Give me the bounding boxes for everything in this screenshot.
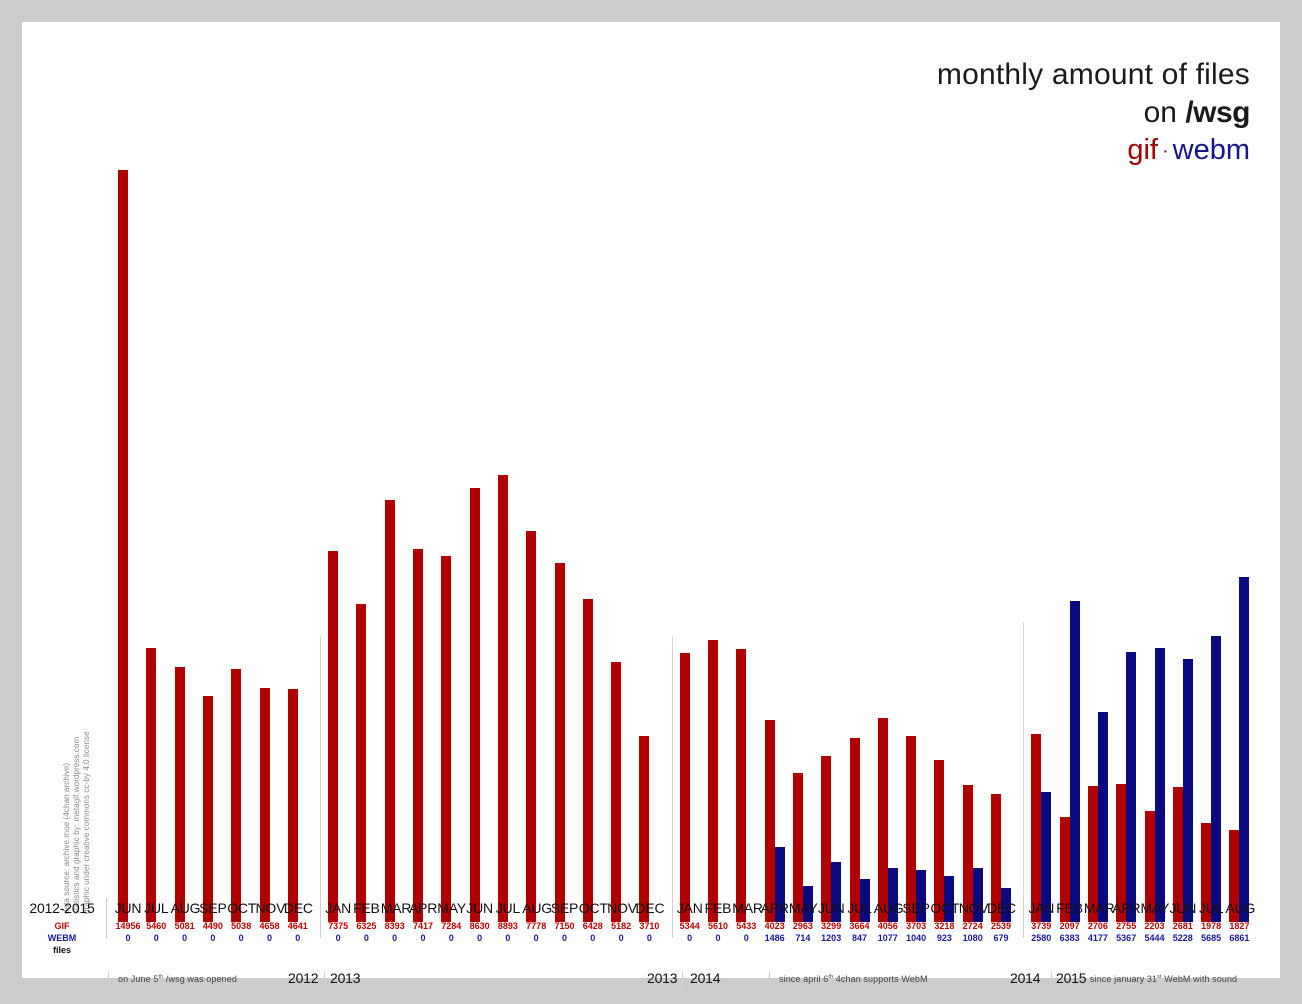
- bar-gif: [736, 649, 746, 922]
- axis-month-column: JAN73750: [324, 900, 352, 943]
- footer-note-text-tail: WebM with sound: [1162, 974, 1237, 984]
- value-webm: 0: [142, 933, 170, 943]
- axis-month-column: APR40231486: [761, 900, 789, 943]
- axis-month-column: JUL19785685: [1197, 900, 1225, 943]
- value-gif: 5344: [676, 921, 704, 931]
- value-gif: 2724: [959, 921, 987, 931]
- bar-gif: [328, 551, 338, 922]
- value-webm: 6861: [1225, 933, 1253, 943]
- axis-month-column: APR27555367: [1112, 900, 1140, 943]
- axis-month-label: AUG: [874, 900, 902, 916]
- axis-month-column: JUL54600: [142, 900, 170, 943]
- bar-gif: [583, 599, 593, 922]
- axis-month-column: JUN26815228: [1169, 900, 1197, 943]
- axis-month-label: NOV: [256, 900, 284, 916]
- value-webm: 0: [732, 933, 760, 943]
- axis-month-label: MAY: [789, 900, 817, 916]
- bar-gif: [118, 170, 128, 922]
- axis-month-column: MAR54330: [732, 900, 760, 943]
- footer-divider: [682, 971, 683, 993]
- axis-month-column: MAR27064177: [1084, 900, 1112, 943]
- bar-webm: [1183, 659, 1193, 922]
- axis-month-column: SEP37031040: [902, 900, 930, 943]
- axis-month-column: DEC37100: [635, 900, 663, 943]
- axis-month-label: OCT: [579, 900, 607, 916]
- year-range-label: 2012-2015: [26, 900, 98, 916]
- value-gif: 7417: [409, 921, 437, 931]
- bar-gif: [175, 667, 185, 922]
- footer-year-label: 2015: [1056, 970, 1086, 986]
- axis-month-column: APR74170: [409, 900, 437, 943]
- value-gif: 7284: [437, 921, 465, 931]
- axis-month-column: NOV51820: [607, 900, 635, 943]
- footer-year-label: 2012: [288, 970, 318, 986]
- bar-gif: [611, 662, 621, 922]
- axis-legend-column: 2012-2015 GIF WEBM files: [26, 900, 98, 955]
- axis-month-label: JUL: [1197, 900, 1225, 916]
- bar-webm: [1239, 577, 1249, 922]
- value-webm: 0: [607, 933, 635, 943]
- axis-month-label: JUL: [846, 900, 874, 916]
- bar-gif: [413, 549, 423, 922]
- bar-webm: [1070, 601, 1080, 922]
- value-webm: 0: [256, 933, 284, 943]
- axis-month-label: DEC: [635, 900, 663, 916]
- value-gif: 4023: [761, 921, 789, 931]
- value-gif: 5038: [227, 921, 255, 931]
- value-gif: 2963: [789, 921, 817, 931]
- axis-month-column: JUN86300: [466, 900, 494, 943]
- bar-gif: [260, 688, 270, 922]
- bar-gif: [288, 689, 298, 922]
- axis-month-label: NOV: [607, 900, 635, 916]
- value-webm: 0: [704, 933, 732, 943]
- value-gif: 7778: [522, 921, 550, 931]
- axis-month-column: OCT64280: [579, 900, 607, 943]
- footer-note: since january 31st WebM with sound: [1090, 974, 1237, 984]
- value-webm: 6383: [1056, 933, 1084, 943]
- value-gif: 2539: [987, 921, 1015, 931]
- axis-month-column: SEP71500: [551, 900, 579, 943]
- value-webm: 714: [789, 933, 817, 943]
- axis-month-column: FEB20976383: [1056, 900, 1084, 943]
- footer-year-label: 2014: [690, 970, 720, 986]
- axis-month-column: SEP44900: [199, 900, 227, 943]
- axis-month-label: JAN: [1027, 900, 1055, 916]
- axis-month-column: JUL3664847: [846, 900, 874, 943]
- value-gif: 3739: [1027, 921, 1055, 931]
- bar-gif: [639, 736, 649, 922]
- value-gif: 5081: [171, 921, 199, 931]
- value-webm: 0: [352, 933, 380, 943]
- axis-month-label: JUN: [1169, 900, 1197, 916]
- axis-month-label: APR: [409, 900, 437, 916]
- axis-month-column: MAY72840: [437, 900, 465, 943]
- axis-month-label: OCT: [930, 900, 958, 916]
- value-webm: 0: [409, 933, 437, 943]
- value-gif: 4641: [284, 921, 312, 931]
- footer-note-text: since april 6: [779, 974, 828, 984]
- footer-year-label: 2013: [330, 970, 360, 986]
- axis-month-label: MAY: [1141, 900, 1169, 916]
- bar-webm: [1126, 652, 1136, 922]
- value-gif: 3218: [930, 921, 958, 931]
- value-webm: 0: [381, 933, 409, 943]
- axis-year-divider: [106, 898, 107, 938]
- value-webm: 1077: [874, 933, 902, 943]
- axis-month-column: MAY2963714: [789, 900, 817, 943]
- value-gif: 14956: [114, 921, 142, 931]
- axis-month-label: SEP: [199, 900, 227, 916]
- poster-canvas: monthly amount of files on /wsg gif·webm…: [22, 22, 1280, 978]
- value-webm: 847: [846, 933, 874, 943]
- value-webm: 1203: [817, 933, 845, 943]
- bar-gif: [146, 648, 156, 922]
- value-gif: 3710: [635, 921, 663, 931]
- axis-month-label: JUL: [494, 900, 522, 916]
- value-webm: 0: [466, 933, 494, 943]
- value-gif: 4490: [199, 921, 227, 931]
- axis-month-column: JUL88930: [494, 900, 522, 943]
- value-gif: 4056: [874, 921, 902, 931]
- axis-month-label: OCT: [227, 900, 255, 916]
- value-gif: 6428: [579, 921, 607, 931]
- value-gif: 3664: [846, 921, 874, 931]
- axis-month-label: APR: [761, 900, 789, 916]
- value-webm: 0: [114, 933, 142, 943]
- footer-note-text-tail: 4chan supports WebM: [833, 974, 927, 984]
- value-gif: 5460: [142, 921, 170, 931]
- year-divider: [672, 636, 673, 922]
- value-gif: 8630: [466, 921, 494, 931]
- value-webm: 0: [635, 933, 663, 943]
- value-webm: 4177: [1084, 933, 1112, 943]
- axis-month-column: FEB56100: [704, 900, 732, 943]
- value-gif: 6325: [352, 921, 380, 931]
- footer-divider: [108, 971, 109, 993]
- value-gif: 8893: [494, 921, 522, 931]
- bar-gif: [470, 488, 480, 922]
- footer-note-text: on June 5: [118, 974, 158, 984]
- axis-month-label: AUG: [171, 900, 199, 916]
- value-gif: 2097: [1056, 921, 1084, 931]
- bar-gif: [878, 718, 888, 922]
- axis-legend-gif: GIF: [26, 921, 98, 931]
- bar-gif: [821, 756, 831, 922]
- footer-note: since april 6th 4chan supports WebM: [779, 974, 928, 984]
- footer-divider: [769, 971, 770, 993]
- axis-month-label: JAN: [676, 900, 704, 916]
- year-divider: [320, 636, 321, 922]
- axis-month-column: JUN149560: [114, 900, 142, 943]
- bar-gif: [231, 669, 241, 922]
- value-gif: 3703: [902, 921, 930, 931]
- value-gif: 2203: [1141, 921, 1169, 931]
- bar-webm: [1155, 648, 1165, 922]
- bar-chart-plot: [22, 22, 1280, 978]
- value-webm: 1080: [959, 933, 987, 943]
- value-webm: 0: [551, 933, 579, 943]
- axis-month-column: FEB63250: [352, 900, 380, 943]
- bar-gif: [555, 563, 565, 922]
- axis-year-divider: [672, 898, 673, 938]
- value-webm: 2580: [1027, 933, 1055, 943]
- axis-month-label: JUN: [466, 900, 494, 916]
- value-gif: 2681: [1169, 921, 1197, 931]
- axis-month-label: FEB: [352, 900, 380, 916]
- footer-note-text: since january 31: [1090, 974, 1157, 984]
- footer-divider: [324, 971, 325, 993]
- value-gif: 3299: [817, 921, 845, 931]
- value-gif: 1827: [1225, 921, 1253, 931]
- bar-gif: [356, 604, 366, 922]
- value-webm: 0: [579, 933, 607, 943]
- bar-gif: [441, 556, 451, 922]
- value-webm: 1040: [902, 933, 930, 943]
- axis-month-column: OCT3218923: [930, 900, 958, 943]
- axis-month-label: JUN: [114, 900, 142, 916]
- value-webm: 0: [199, 933, 227, 943]
- value-gif: 5182: [607, 921, 635, 931]
- axis-month-label: FEB: [704, 900, 732, 916]
- value-webm: 1486: [761, 933, 789, 943]
- value-webm: 0: [676, 933, 704, 943]
- axis-month-column: MAR83930: [381, 900, 409, 943]
- axis-month-label: SEP: [902, 900, 930, 916]
- year-divider: [1023, 622, 1024, 922]
- value-gif: 2755: [1112, 921, 1140, 931]
- axis-year-divider: [1023, 898, 1024, 938]
- value-webm: 0: [227, 933, 255, 943]
- footer-year-label: 2014: [1010, 970, 1040, 986]
- axis-month-label: APR: [1112, 900, 1140, 916]
- value-gif: 5433: [732, 921, 760, 931]
- axis-month-label: DEC: [987, 900, 1015, 916]
- axis-month-column: AUG50810: [171, 900, 199, 943]
- value-gif: 8393: [381, 921, 409, 931]
- value-gif: 7150: [551, 921, 579, 931]
- value-gif: 1978: [1197, 921, 1225, 931]
- value-gif: 2706: [1084, 921, 1112, 931]
- value-webm: 0: [324, 933, 352, 943]
- axis-month-column: MAY22035444: [1141, 900, 1169, 943]
- value-gif: 4658: [256, 921, 284, 931]
- axis-month-label: MAR: [732, 900, 760, 916]
- bar-gif: [708, 640, 718, 922]
- bar-gif: [385, 500, 395, 922]
- axis-month-column: AUG18276861: [1225, 900, 1253, 943]
- axis-month-column: AUG77780: [522, 900, 550, 943]
- axis-legend-files: files: [26, 945, 98, 955]
- bar-webm: [1211, 636, 1221, 922]
- axis-month-column: NOV46580: [256, 900, 284, 943]
- axis-month-label: MAR: [381, 900, 409, 916]
- bar-gif: [906, 736, 916, 922]
- value-webm: 5367: [1112, 933, 1140, 943]
- footer-note-text-tail: /wsg was opened: [163, 974, 237, 984]
- bar-gif: [934, 760, 944, 922]
- value-webm: 923: [930, 933, 958, 943]
- bar-webm: [1098, 712, 1108, 922]
- bar-gif: [765, 720, 775, 922]
- axis-month-column: JAN37392580: [1027, 900, 1055, 943]
- axis-month-label: MAY: [437, 900, 465, 916]
- axis-year-divider: [320, 898, 321, 938]
- bar-gif: [680, 653, 690, 922]
- axis-month-label: AUG: [522, 900, 550, 916]
- axis-month-label: JUL: [142, 900, 170, 916]
- value-gif: 7375: [324, 921, 352, 931]
- axis-month-label: AUG: [1225, 900, 1253, 916]
- bar-gif: [526, 531, 536, 922]
- value-webm: 0: [494, 933, 522, 943]
- value-webm: 5228: [1169, 933, 1197, 943]
- value-webm: 0: [284, 933, 312, 943]
- bar-gif: [203, 696, 213, 922]
- axis-month-label: NOV: [959, 900, 987, 916]
- value-webm: 0: [171, 933, 199, 943]
- value-gif: 5610: [704, 921, 732, 931]
- footer-year-label: 2013: [647, 970, 677, 986]
- footer-note: on June 5th /wsg was opened: [118, 974, 237, 984]
- axis-month-column: DEC2539679: [987, 900, 1015, 943]
- axis-month-column: JAN53440: [676, 900, 704, 943]
- axis-month-column: DEC46410: [284, 900, 312, 943]
- axis-label-area: 2012-2015 GIF WEBM files JUN149560JUL546…: [22, 900, 1280, 978]
- axis-month-column: OCT50380: [227, 900, 255, 943]
- bar-gif: [498, 475, 508, 922]
- axis-legend-webm: WEBM: [26, 933, 98, 943]
- bar-gif: [850, 738, 860, 922]
- axis-month-label: SEP: [551, 900, 579, 916]
- axis-month-column: AUG40561077: [874, 900, 902, 943]
- footer-divider: [1051, 971, 1052, 993]
- value-webm: 0: [522, 933, 550, 943]
- value-webm: 679: [987, 933, 1015, 943]
- value-webm: 0: [437, 933, 465, 943]
- axis-month-label: JUN: [817, 900, 845, 916]
- value-webm: 5685: [1197, 933, 1225, 943]
- axis-month-label: DEC: [284, 900, 312, 916]
- value-webm: 5444: [1141, 933, 1169, 943]
- axis-month-label: JAN: [324, 900, 352, 916]
- axis-month-column: JUN32991203: [817, 900, 845, 943]
- axis-month-label: MAR: [1084, 900, 1112, 916]
- axis-month-label: FEB: [1056, 900, 1084, 916]
- axis-month-column: NOV27241080: [959, 900, 987, 943]
- bar-gif: [1031, 734, 1041, 922]
